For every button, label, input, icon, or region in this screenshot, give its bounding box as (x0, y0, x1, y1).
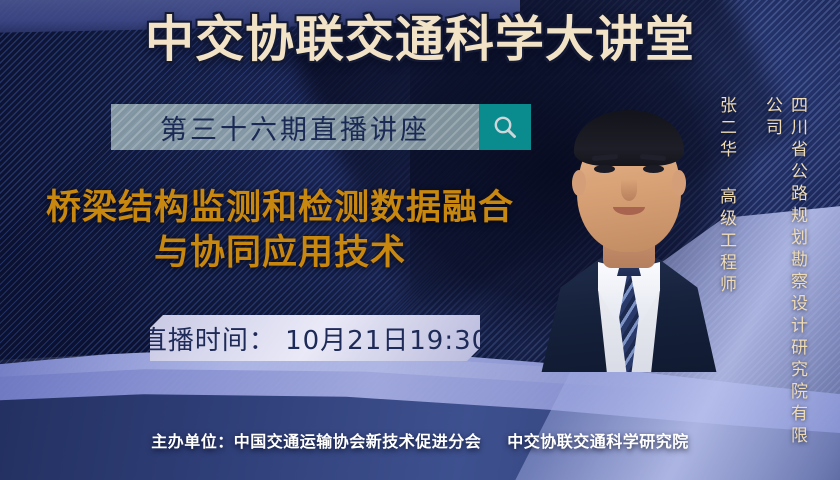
topic-line-1: 桥梁结构监测和检测数据融合 (20, 186, 540, 231)
footer-organizer-2: 中交协联交通科学研究院 (507, 432, 689, 451)
portrait-ear-left (572, 170, 586, 196)
topic-line-2: 与协同应用技术 (20, 231, 540, 276)
portrait-hair (574, 110, 684, 166)
broadcast-time-plate: 直播时间： 10月21日19:30 (150, 315, 480, 361)
session-label: 第三十六期直播讲座 (160, 108, 430, 147)
footer-organizer-1: 中国交通运输协会新技术促进分会 (234, 432, 482, 451)
broadcast-time-text: 直播时间： 10月21日19:30 (141, 320, 489, 357)
speaker-organization: 四川省公路规划勘察设计研究院有限公司 (760, 96, 810, 448)
portrait-eye-right (643, 165, 664, 173)
speaker-portrait (534, 80, 724, 372)
page-title: 中交协联交通科学大讲堂 (0, 14, 840, 65)
footer-organizers: 主办单位：中国交通运输协会新技术促进分会中交协联交通科学研究院 (0, 428, 840, 452)
session-banner: 第三十六期直播讲座 (111, 104, 531, 150)
speaker-name-and-title: 张二华 高级工程师 (714, 96, 739, 396)
portrait-eye-left (594, 165, 615, 173)
topic-title: 桥梁结构监测和检测数据融合 与协同应用技术 (20, 186, 540, 276)
portrait-nose (621, 179, 637, 201)
search-icon (492, 114, 518, 140)
portrait-ear-right (672, 170, 686, 196)
search-button[interactable] (479, 104, 531, 150)
webinar-poster: 中交协联交通科学大讲堂 第三十六期直播讲座 桥梁结构监测和检测数据融合 与协同应… (0, 0, 840, 480)
footer-label: 主办单位： (151, 432, 234, 451)
session-banner-fill: 第三十六期直播讲座 (111, 104, 479, 150)
